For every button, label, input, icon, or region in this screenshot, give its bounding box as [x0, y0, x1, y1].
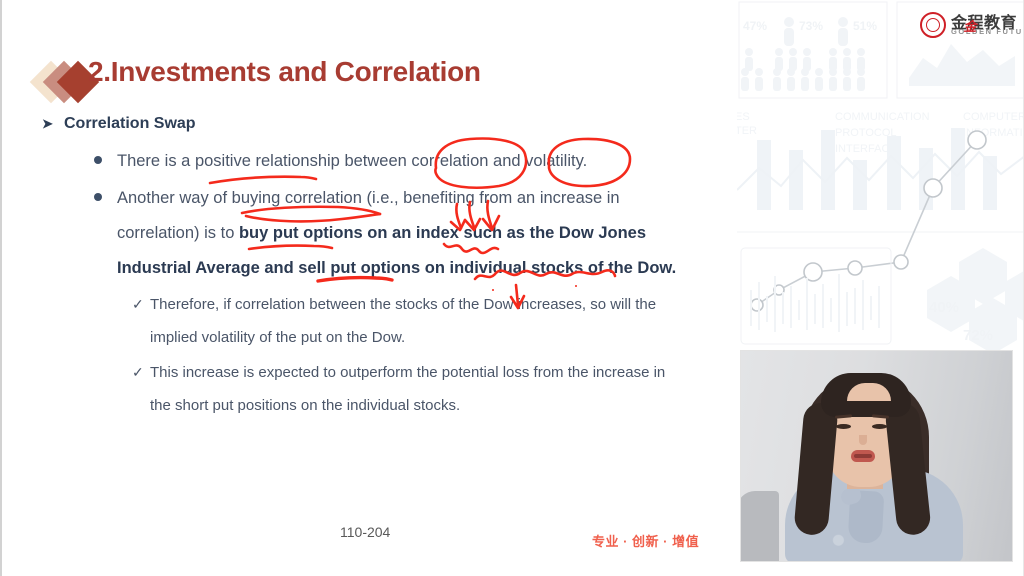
section-heading: ➤ Correlation Swap [2, 110, 722, 138]
svg-text:73%: 73% [799, 19, 823, 33]
check-bullet-icon: ✓ [132, 356, 144, 389]
svg-text:51%: 51% [853, 19, 877, 33]
sub-bullet-item: ✓ Therefore, if correlation between the … [2, 288, 722, 354]
page-number: 110-204 [340, 524, 390, 540]
svg-text:72%: 72% [963, 327, 993, 344]
svg-text:47%: 47% [743, 19, 767, 33]
background-infographic: 47% 73% 51% ES TER COMMUNICATION PROTOCO… [737, 0, 1024, 350]
svg-text:ES: ES [737, 111, 750, 123]
sub-bullet-item: ✓ This increase is expected to outperfor… [2, 356, 722, 422]
bullet-item: Another way of buying correlation (i.e.,… [2, 181, 722, 286]
page-title: 2.Investments and Correlation [88, 56, 481, 88]
svg-text:COMMUNICATION: COMMUNICATION [835, 111, 930, 123]
presenter-hair-front [821, 373, 911, 417]
brand-slogan: 专业 · 创新 · 增值 [592, 531, 699, 550]
slide-content: ➤ Correlation Swap There is a positive r… [2, 110, 722, 422]
infographic-svg: 47% 73% 51% ES TER COMMUNICATION PROTOCO… [737, 0, 1024, 350]
brand-logo: 金 金程教育 GOLDEN FUTURE [920, 10, 1020, 40]
svg-text:COMPUTER: COMPUTER [963, 111, 1024, 123]
sub-bullet-text: This increase is expected to outperform … [150, 364, 665, 414]
section-heading-label: Correlation Swap [64, 115, 196, 132]
svg-text:TER: TER [737, 125, 757, 137]
arrow-bullet-icon: ➤ [42, 110, 53, 138]
presentation-slide: 47% 73% 51% ES TER COMMUNICATION PROTOCO… [0, 0, 1024, 576]
webcam-furniture [741, 491, 779, 561]
webcam-video-panel[interactable] [741, 351, 1012, 561]
presenter-bow [848, 490, 885, 544]
bullet-item: There is a positive relationship between… [2, 144, 722, 179]
slide-title-row: 2.Investments and Correlation [36, 60, 696, 106]
presenter-mouth [851, 450, 875, 462]
sub-bullet-text: Therefore, if correlation between the st… [150, 296, 656, 346]
svg-text:40%: 40% [929, 299, 959, 316]
presenter-eye-left [836, 424, 851, 429]
presenter-eye-right [872, 424, 887, 429]
check-bullet-icon: ✓ [132, 288, 144, 321]
dot-bullet-icon [94, 156, 102, 164]
bullet-text: There is a positive relationship between… [117, 152, 587, 170]
dot-bullet-icon [94, 193, 102, 201]
presenter-nose [859, 435, 867, 445]
seal-glyph: 金 [920, 10, 1020, 40]
